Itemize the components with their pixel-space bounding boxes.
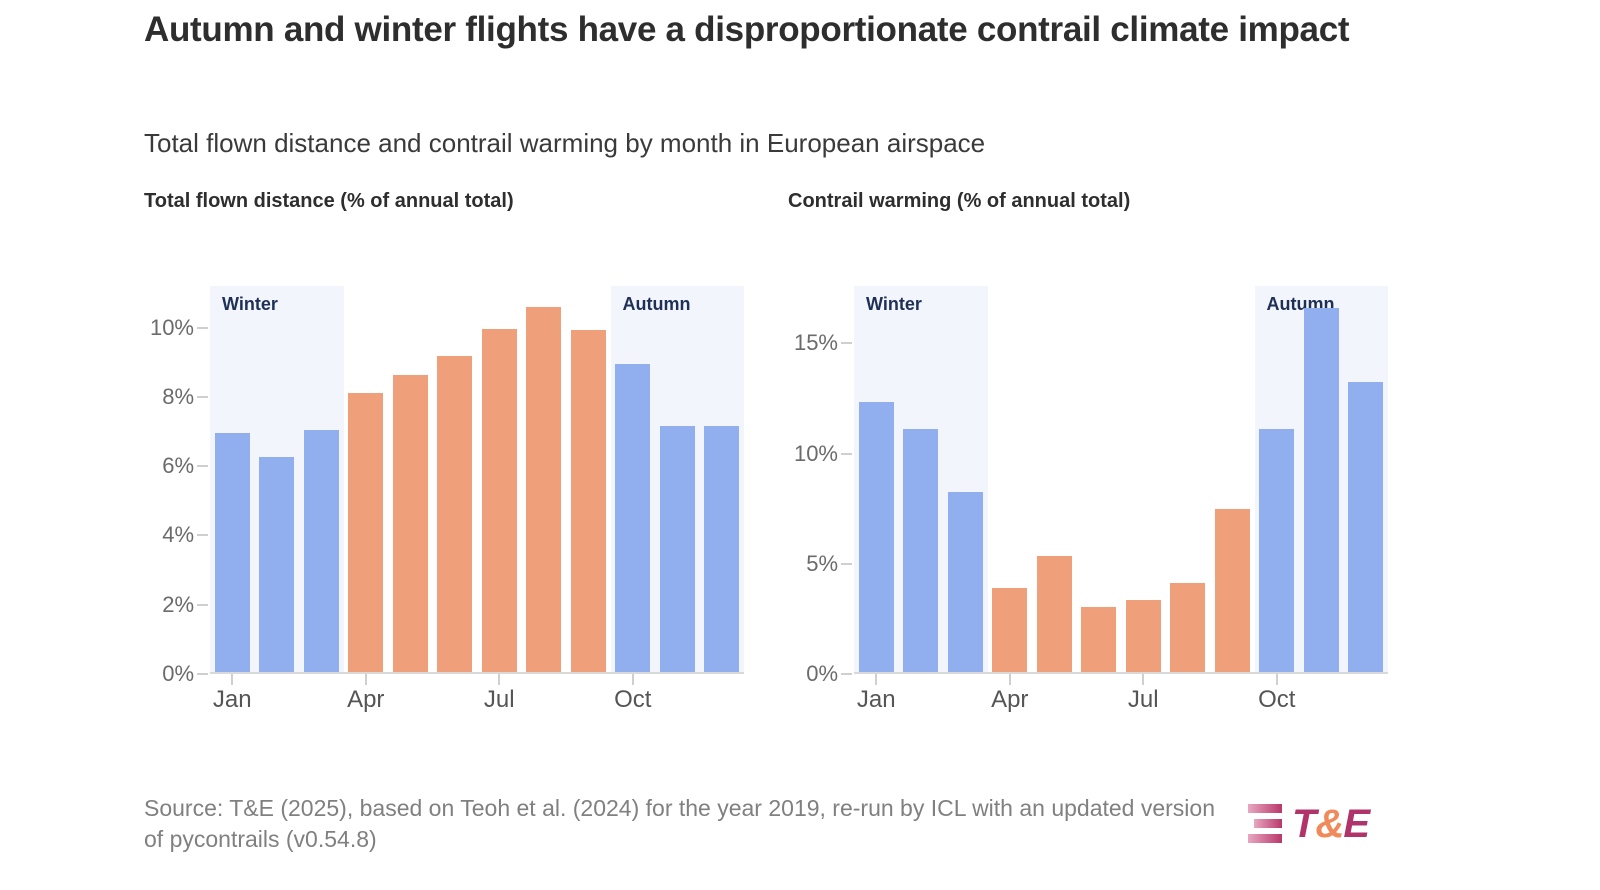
y-axis-tick-mark	[841, 342, 852, 344]
x-axis: JanAprJulOct	[854, 674, 1388, 716]
x-axis-tick-label: Jul	[484, 686, 515, 714]
bar-slot	[655, 286, 700, 674]
bar-may[interactable]	[393, 375, 428, 674]
x-axis-tick-label: Jan	[213, 686, 252, 714]
te-logo-mark-icon	[1238, 800, 1282, 848]
bar-jan[interactable]	[859, 402, 894, 674]
x-axis-tick-label: Apr	[991, 686, 1028, 714]
x-axis-tick-label: Oct	[614, 686, 651, 714]
x-axis-tick-mark	[365, 674, 367, 685]
bar-group	[210, 286, 744, 674]
bar-slot	[433, 286, 478, 674]
panel-flown-distance: Total flown distance (% of annual total)…	[144, 190, 744, 716]
source-line-1: Source: T&E (2025), based on Teoh et al.…	[144, 795, 966, 821]
bar-slot	[477, 286, 522, 674]
bar-may[interactable]	[1037, 556, 1072, 674]
y-axis-tick-mark	[197, 465, 208, 467]
x-axis-tick-mark	[632, 674, 634, 685]
bar-jan[interactable]	[215, 433, 250, 674]
bar-slot	[854, 286, 899, 674]
bar-slot	[611, 286, 656, 674]
y-axis-tick-mark	[197, 534, 208, 536]
source-note: Source: T&E (2025), based on Teoh et al.…	[144, 793, 1224, 856]
page-title: Autumn and winter flights have a disprop…	[144, 8, 1434, 51]
bar-slot	[1299, 286, 1344, 674]
bar-sep[interactable]	[1215, 509, 1250, 674]
bar-oct[interactable]	[1259, 429, 1294, 674]
panel-title-flown-distance: Total flown distance (% of annual total)	[144, 190, 744, 220]
bar-slot	[899, 286, 944, 674]
bar-slot	[344, 286, 389, 674]
bar-slot	[210, 286, 255, 674]
bar-slot	[1166, 286, 1211, 674]
bar-slot	[1210, 286, 1255, 674]
y-axis-tick-mark	[197, 327, 208, 329]
bar-jul[interactable]	[482, 329, 517, 674]
bar-slot	[522, 286, 567, 674]
plot-area: WinterAutumn0%2%4%6%8%10%	[210, 286, 744, 674]
x-axis-tick-label: Apr	[347, 686, 384, 714]
x-axis-tick-label: Oct	[1258, 686, 1295, 714]
bar-jul[interactable]	[1126, 600, 1161, 674]
x-axis-tick-label: Jan	[857, 686, 896, 714]
plot-area: WinterAutumn0%5%10%15%	[854, 286, 1388, 674]
bar-slot	[1121, 286, 1166, 674]
bar-slot	[566, 286, 611, 674]
x-axis-tick-mark	[1276, 674, 1278, 685]
bar-jun[interactable]	[437, 356, 472, 674]
y-axis-tick-mark	[841, 453, 852, 455]
bar-feb[interactable]	[259, 457, 294, 674]
bar-slot	[1344, 286, 1389, 674]
bar-slot	[255, 286, 300, 674]
y-axis-tick-mark	[197, 396, 208, 398]
x-axis-tick-mark	[231, 674, 233, 685]
bar-slot	[1077, 286, 1122, 674]
x-axis-tick-mark	[1009, 674, 1011, 685]
chart-contrail-warming: WinterAutumn0%5%10%15%JanAprJulOct	[788, 286, 1388, 716]
bar-slot	[1032, 286, 1077, 674]
y-axis-tick-mark	[197, 673, 208, 675]
bar-mar[interactable]	[304, 430, 339, 674]
bar-apr[interactable]	[348, 393, 383, 674]
te-logo-text: T&E	[1292, 804, 1369, 844]
x-axis: JanAprJulOct	[210, 674, 744, 716]
bar-mar[interactable]	[948, 492, 983, 674]
logo-letter-e: E	[1343, 802, 1369, 846]
x-axis-tick-mark	[875, 674, 877, 685]
bar-dec[interactable]	[1348, 382, 1383, 674]
x-axis-tick-mark	[498, 674, 500, 685]
panel-title-contrail-warming: Contrail warming (% of annual total)	[788, 190, 1388, 220]
y-axis-tick-mark	[841, 673, 852, 675]
bar-apr[interactable]	[992, 588, 1027, 674]
chart-flown-distance: WinterAutumn0%2%4%6%8%10%JanAprJulOct	[144, 286, 744, 716]
bar-aug[interactable]	[526, 307, 561, 674]
bar-aug[interactable]	[1170, 583, 1205, 674]
x-axis-tick-mark	[1142, 674, 1144, 685]
bar-group	[854, 286, 1388, 674]
bar-slot	[388, 286, 433, 674]
bar-slot	[988, 286, 1033, 674]
bar-nov[interactable]	[1304, 308, 1339, 674]
x-axis-tick-label: Jul	[1128, 686, 1159, 714]
y-axis-tick-mark	[841, 563, 852, 565]
bar-slot	[1255, 286, 1300, 674]
logo-letter-t: T	[1292, 802, 1315, 846]
te-logo: T&E	[1238, 795, 1408, 853]
y-axis-tick-mark	[197, 604, 208, 606]
chart-page: Autumn and winter flights have a disprop…	[0, 0, 1600, 890]
bar-dec[interactable]	[704, 426, 739, 674]
bar-slot	[299, 286, 344, 674]
logo-ampersand: &	[1315, 802, 1343, 846]
bar-slot	[700, 286, 745, 674]
bar-sep[interactable]	[571, 330, 606, 674]
bar-nov[interactable]	[660, 426, 695, 674]
panel-contrail-warming: Contrail warming (% of annual total) Win…	[788, 190, 1388, 716]
page-subtitle: Total flown distance and contrail warmin…	[144, 127, 1444, 161]
bar-feb[interactable]	[903, 429, 938, 674]
bar-oct[interactable]	[615, 364, 650, 674]
bar-jun[interactable]	[1081, 607, 1116, 674]
bar-slot	[943, 286, 988, 674]
